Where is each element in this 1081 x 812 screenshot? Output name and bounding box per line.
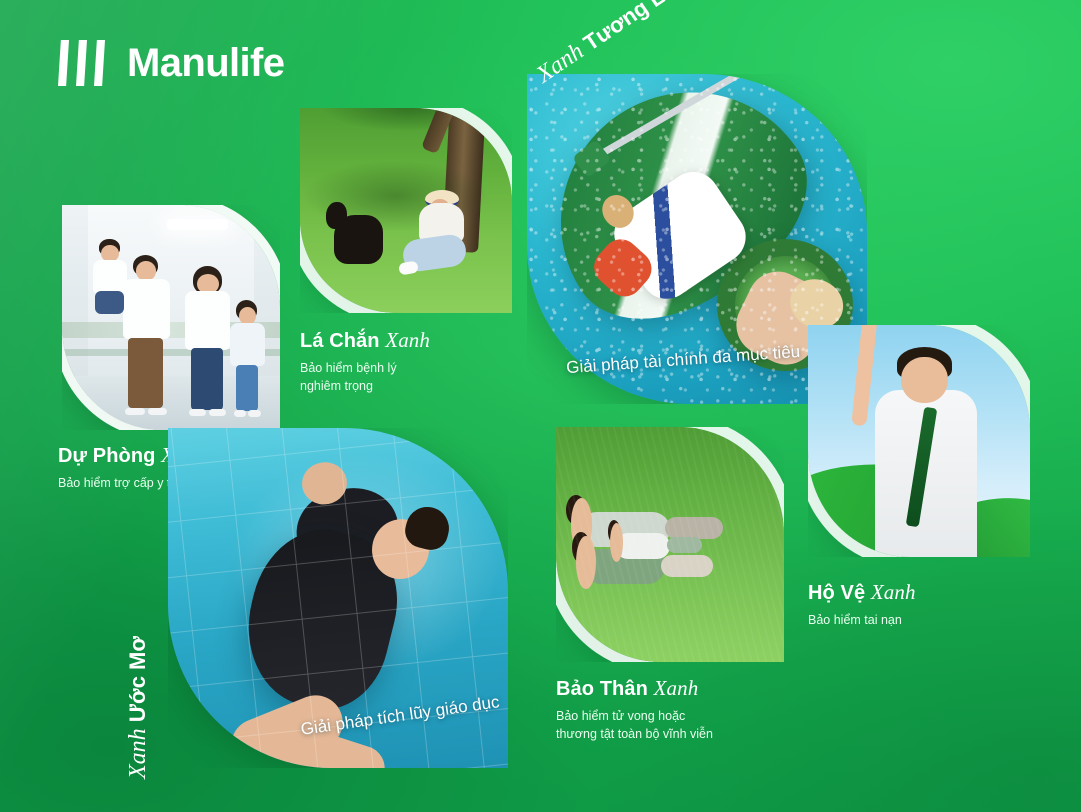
card-la-chan-xanh[interactable] — [300, 108, 512, 313]
card-image-bao-than-xanh — [556, 427, 784, 662]
card-subtitle-la-chan-xanh: Bảo hiểm bệnh lý nghiêm trọng — [300, 360, 530, 396]
card-ho-ve-xanh[interactable] — [808, 325, 1030, 557]
manulife-bars-icon — [58, 40, 105, 86]
card-image-du-phong-xanh — [62, 205, 280, 430]
brand-name: Manulife — [127, 43, 284, 83]
card-du-phong-xanh[interactable] — [62, 205, 280, 430]
card-title-la-chan-xanh: Lá Chắn Xanh — [300, 328, 530, 353]
card-subtitle-ho-ve-xanh: Bảo hiểm tai nạn — [808, 612, 1038, 630]
caption-ho-ve-xanh: Hộ Vệ Xanh Bảo hiểm tai nạn — [808, 580, 1038, 630]
manulife-logo[interactable]: Manulife — [58, 40, 284, 86]
caption-bao-than-xanh: Bảo Thân Xanh Bảo hiểm tử vong hoặc thươ… — [556, 676, 806, 744]
card-subtitle-bao-than-xanh: Bảo hiểm tử vong hoặc thương tật toàn bộ… — [556, 708, 806, 744]
card-title-ho-ve-xanh: Hộ Vệ Xanh — [808, 580, 1038, 605]
card-image-ho-ve-xanh — [808, 325, 1030, 557]
card-image-la-chan-xanh — [300, 108, 512, 313]
card-bao-than-xanh[interactable] — [556, 427, 784, 662]
caption-la-chan-xanh: Lá Chắn Xanh Bảo hiểm bệnh lý nghiêm trọ… — [300, 328, 530, 396]
poster-canvas: Manulife — [0, 0, 1081, 812]
feature-label-xanh-uoc-mo: Xanh Ước Mơ — [125, 636, 152, 779]
card-title-bao-than-xanh: Bảo Thân Xanh — [556, 676, 806, 701]
